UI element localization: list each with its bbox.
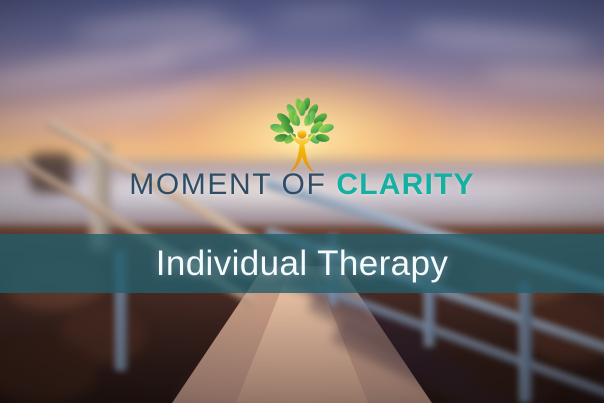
right-railing-post	[519, 282, 531, 403]
background-photo	[0, 0, 604, 403]
title-banner: Individual Therapy	[0, 234, 604, 293]
brand-lockup: MOMENT OF CLARITY	[0, 96, 604, 200]
rock-cluster	[0, 339, 97, 403]
banner-title-text: Individual Therapy	[156, 244, 449, 284]
wordmark: MOMENT OF CLARITY	[129, 170, 475, 200]
video-thumbnail-card: MOMENT OF CLARITY Individual Therapy	[0, 0, 604, 403]
wordmark-bold-text: CLARITY	[336, 168, 474, 201]
tree-with-figure-logo-icon	[265, 96, 339, 174]
wordmark-light-text: MOMENT OF	[129, 168, 326, 201]
